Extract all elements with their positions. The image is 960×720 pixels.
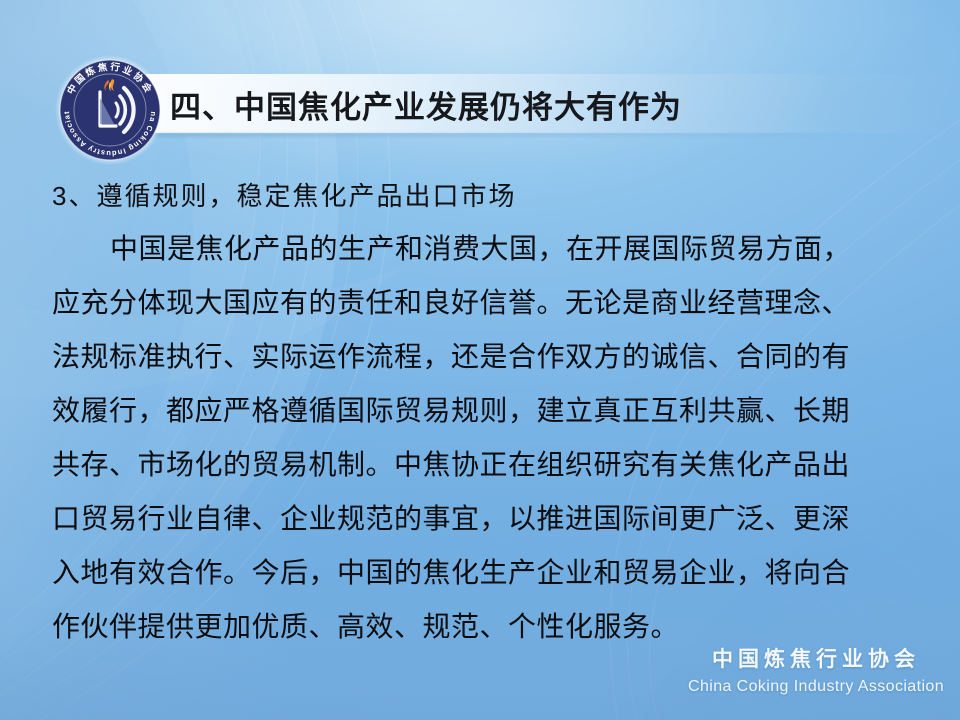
body-line: 中国是焦化产品的生产和消费大国，在开展国际贸易方面， xyxy=(52,222,932,276)
body-line: 入地有效合作。今后，中国的焦化生产企业和贸易企业，将向合 xyxy=(52,546,932,600)
body-line: 应充分体现大国应有的责任和良好信誉。无论是商业经营理念、 xyxy=(52,276,932,330)
section-subtitle: 3、遵循规则，稳定焦化产品出口市场 xyxy=(52,176,516,213)
association-logo-icon: 中国炼焦行业协会 China Coking Industry Associati… xyxy=(54,54,166,166)
body-line: 效履行，都应严格遵循国际贸易规则，建立真正互利共赢、长期 xyxy=(52,384,932,438)
footer-org-name-cn: 中国炼焦行业协会 xyxy=(688,648,944,672)
page-title: 四、中国焦化产业发展仍将大有作为 xyxy=(170,76,682,132)
footer-branding: 中国炼焦行业协会 China Coking Industry Associati… xyxy=(688,648,944,696)
slide-canvas: 四、中国焦化产业发展仍将大有作为 中国炼焦行业协会 China xyxy=(0,0,960,720)
body-text-block: 中国是焦化产品的生产和消费大国，在开展国际贸易方面， 应充分体现大国应有的责任和… xyxy=(52,222,932,654)
body-line: 口贸易行业自律、企业规范的事宜，以推进国际间更广泛、更深 xyxy=(52,492,932,546)
footer-org-name-en: China Coking Industry Association xyxy=(688,678,944,696)
body-line: 法规标准执行、实际运作流程，还是合作双方的诚信、合同的有 xyxy=(52,330,932,384)
body-line: 共存、市场化的贸易机制。中焦协正在组织研究有关焦化产品出 xyxy=(52,438,932,492)
body-line: 作伙伴提供更加优质、高效、规范、个性化服务。 xyxy=(52,600,932,654)
title-banner-shadow xyxy=(96,133,886,137)
